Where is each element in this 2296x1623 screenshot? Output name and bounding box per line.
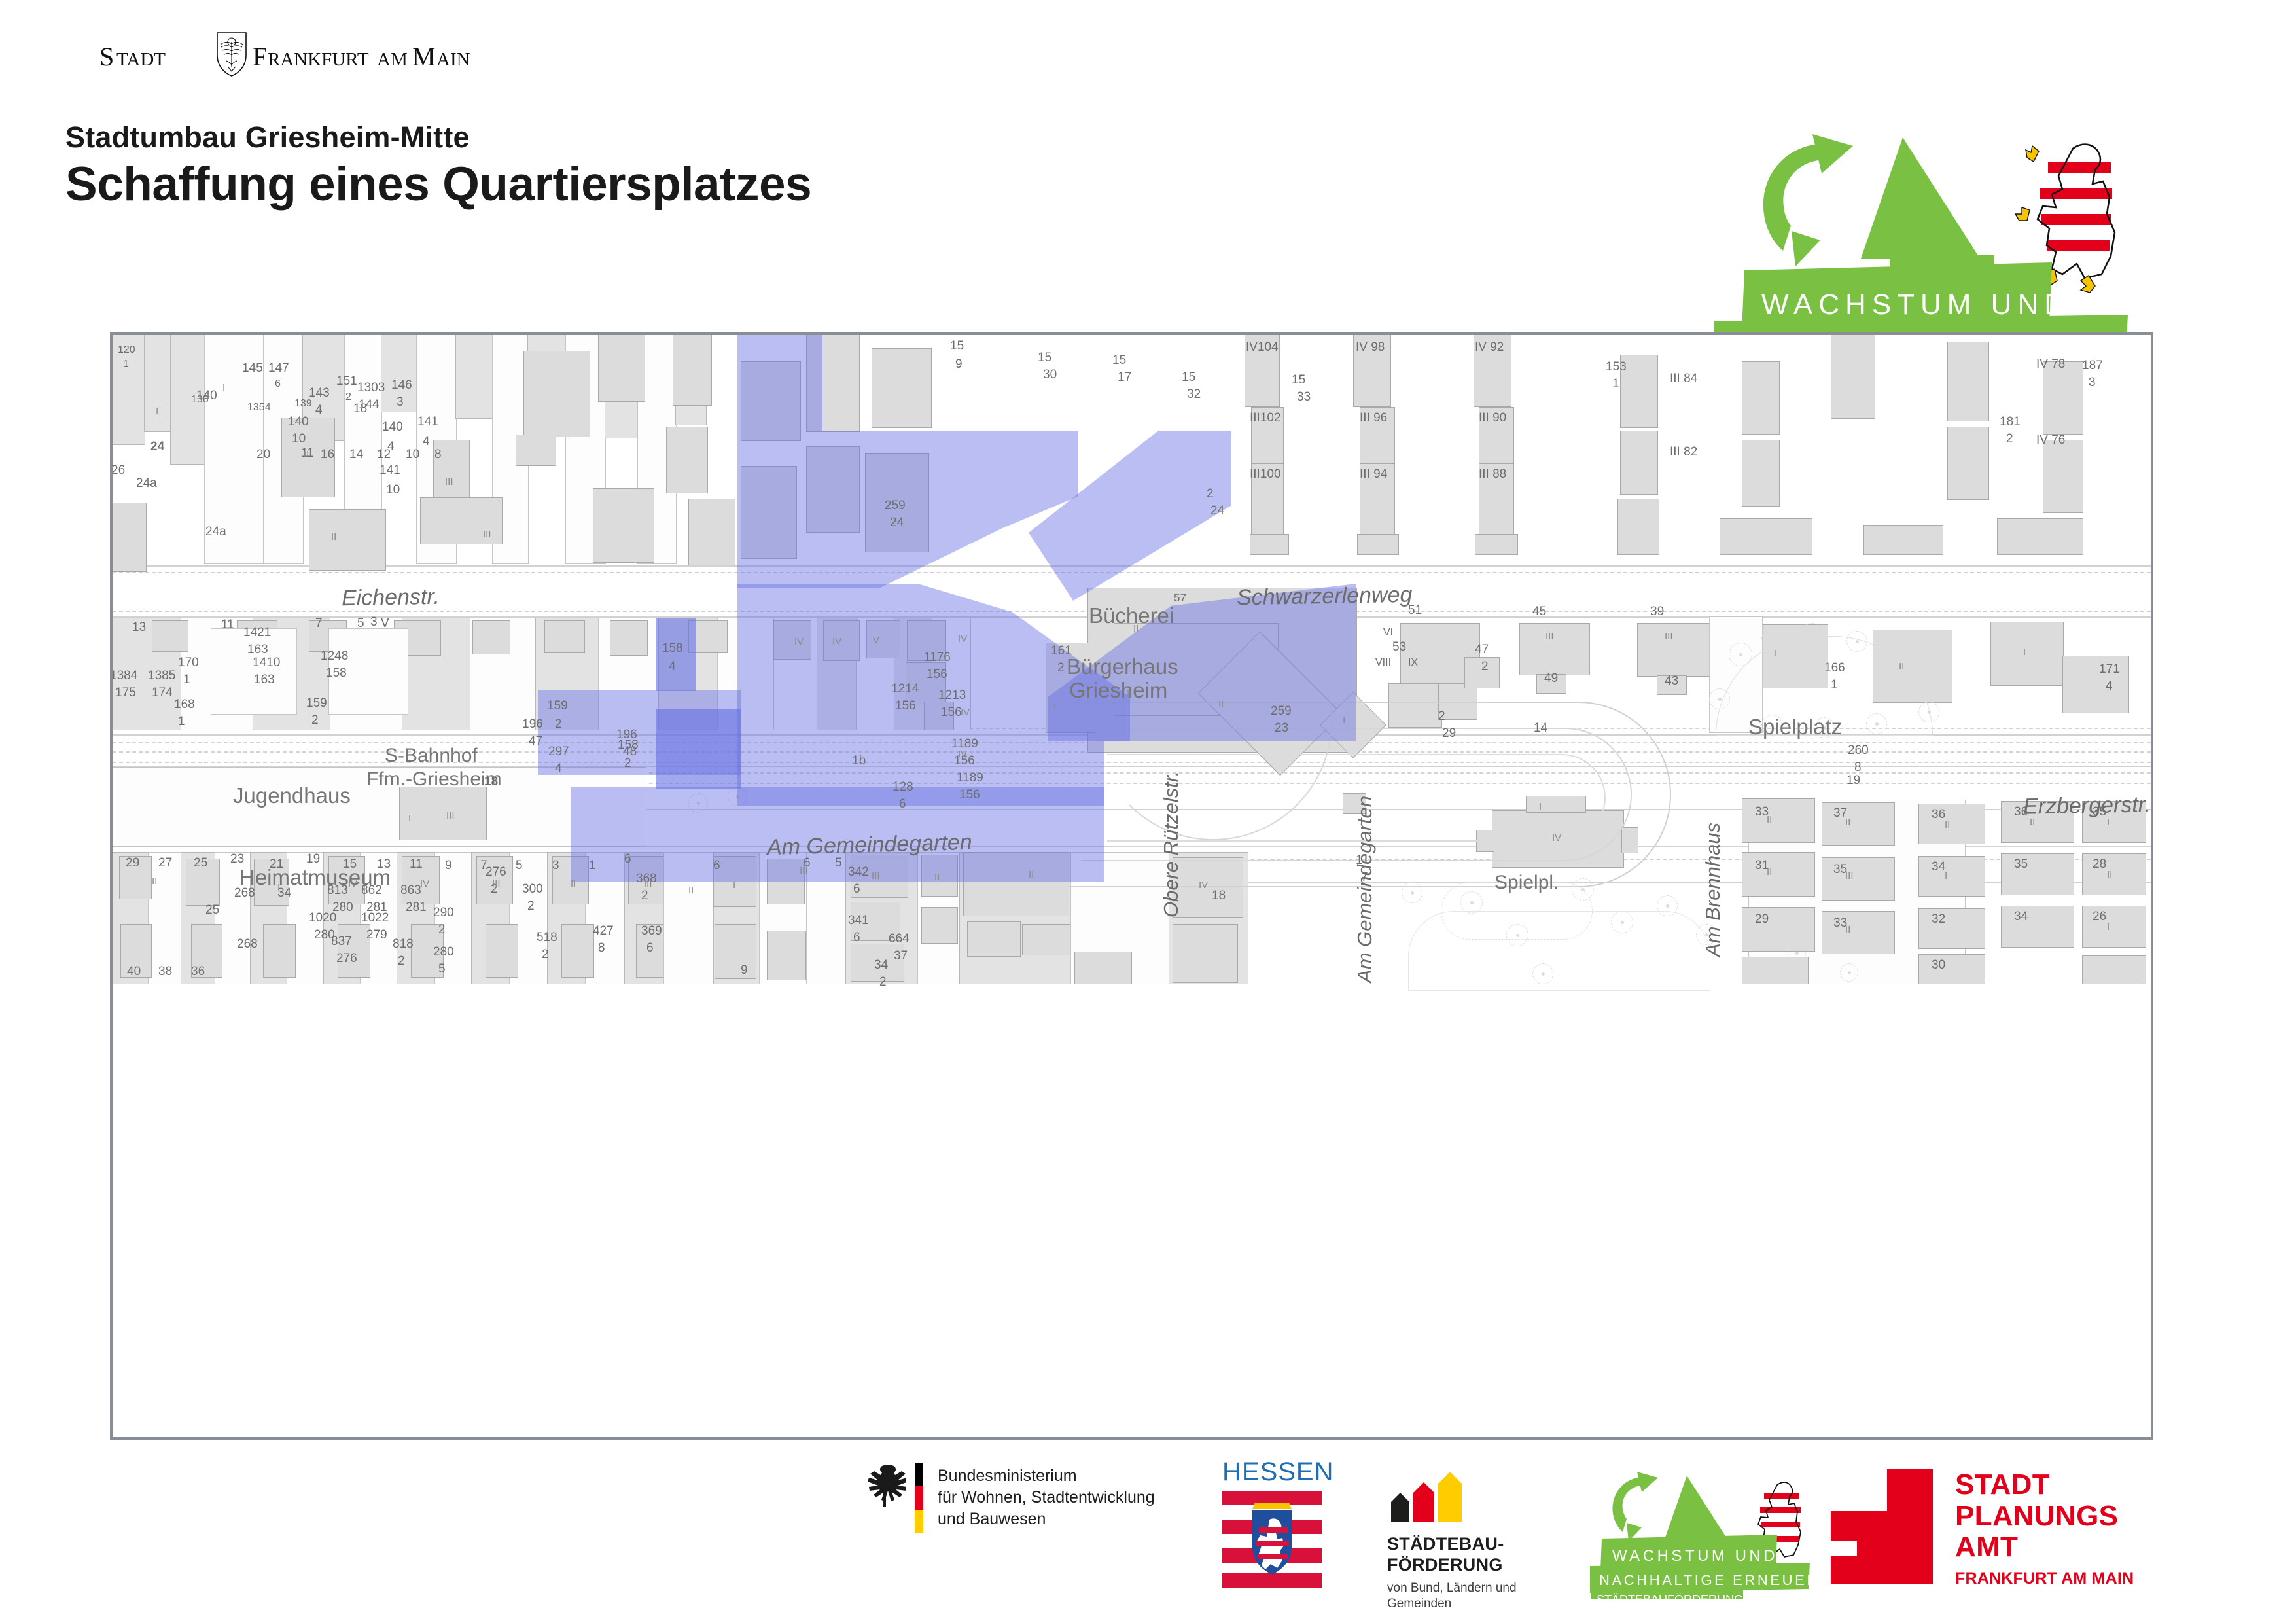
house-number: 4: [2106, 679, 2113, 694]
house-number: III 94: [1360, 467, 1387, 482]
house-number: 813: [327, 883, 348, 898]
recycling-arrow-icon: [1612, 1472, 1658, 1541]
house-number: III100: [1250, 467, 1281, 482]
house-number: 2: [1057, 661, 1065, 675]
spa-line1: STADT: [1955, 1469, 2134, 1501]
svg-text:STÄDTEBAUFÖRDERUNG HESSEN: STÄDTEBAUFÖRDERUNG HESSEN: [1597, 1593, 1795, 1599]
house-number: 268: [237, 937, 258, 952]
house-number: 1: [1831, 678, 1838, 692]
stadtplanungsamt-logo: STADT PLANUNGS AMT FRANKFURT AM MAIN: [1831, 1469, 2134, 1588]
house-number: 5: [516, 859, 523, 873]
house-number: 6: [624, 852, 631, 866]
house-number: 29: [126, 856, 139, 870]
house-number: III 82: [1670, 445, 1697, 459]
house-number: 128: [892, 780, 913, 794]
street-label-am-gemeindegarten-vertical: Am Gemeindegarten: [1353, 796, 1377, 983]
house-number: 9: [741, 963, 748, 978]
house-number: 369: [641, 924, 662, 938]
house-number: 1410: [253, 656, 280, 670]
house-number: 9: [955, 357, 963, 372]
house-number: 1421: [243, 626, 271, 640]
quartiersplatz-highlight-north: [737, 332, 822, 431]
poi-buecherei: Bücherei: [1089, 603, 1174, 628]
svg-text:AIN: AIN: [436, 49, 470, 70]
house-number: 837: [331, 935, 352, 949]
house-number: 26: [2093, 910, 2106, 924]
house-number: 1384: [110, 669, 137, 683]
house-number: 156: [927, 668, 947, 682]
house-number: 19: [1846, 774, 1860, 788]
house-number: 51: [1408, 603, 1422, 618]
svg-text:NACHHALTIGE ERNEUERUNG: NACHHALTIGE ERNEUERUNG: [1599, 1572, 1852, 1588]
house-number: IV104: [1246, 340, 1279, 355]
house-number: 166: [1824, 661, 1845, 675]
house-number: 2: [1438, 709, 1445, 724]
house-number: 15: [343, 857, 357, 872]
house-number: 163: [247, 643, 268, 657]
house-number: 168: [174, 698, 195, 712]
house-number: 37: [894, 949, 908, 963]
house-number: 2: [1481, 660, 1489, 674]
house-number: 25: [194, 856, 207, 870]
house-number: 141: [380, 463, 400, 478]
house-number: III 84: [1670, 372, 1697, 386]
house-number: 24a: [205, 525, 226, 539]
house-number: 30: [1932, 958, 1945, 972]
wachstum-footer-badge: WACHSTUM UND NACHHALTIGE ERNEUERUNG STÄD…: [1590, 1468, 1852, 1602]
house-number: III102: [1250, 411, 1281, 425]
frankfurt-city-logo: S TADT F RANKFURT AM M AIN: [97, 31, 516, 76]
house-number: 145: [242, 361, 263, 376]
house-number: 32: [1932, 912, 1945, 927]
house-number: 151: [336, 374, 357, 389]
svg-text:S: S: [99, 42, 114, 71]
hessen-logo: HESSEN: [1222, 1457, 1334, 1591]
house-number: 2: [2006, 432, 2013, 446]
house-number: 140: [382, 420, 403, 435]
house-number: 8: [1854, 760, 1862, 775]
house-number: 147: [268, 361, 289, 376]
house-number: 143: [309, 386, 330, 401]
house-number: 144: [359, 398, 380, 412]
house-number: 174: [152, 686, 173, 700]
house-number: 260: [1848, 743, 1869, 758]
house-number: 40: [127, 965, 141, 979]
house-number: 342: [848, 865, 869, 880]
house-number: 341: [848, 914, 869, 928]
house-number: 27: [158, 856, 172, 870]
house-number: 47: [529, 734, 542, 749]
house-number: III 88: [1479, 467, 1506, 482]
svg-text:M: M: [412, 42, 436, 71]
house-number: 862: [361, 883, 382, 898]
house-number: 5: [438, 962, 446, 976]
house-number: 146: [391, 378, 412, 393]
house-number: 140: [196, 389, 217, 403]
house-number: 5: [357, 616, 364, 631]
house-number: 2: [1207, 487, 1214, 501]
street-label-erzbergerstr: Erzbergerstr.: [2023, 792, 2151, 819]
house-number: 30: [1043, 368, 1057, 382]
house-number: 196: [616, 728, 637, 742]
poi-jugendhaus: Jugendhaus: [233, 783, 351, 808]
house-number: 1354: [247, 402, 271, 414]
house-number: 281: [406, 901, 427, 915]
house-number: 47: [1475, 643, 1489, 657]
house-number: 45: [1532, 605, 1546, 619]
parcel-number: 2: [345, 391, 351, 403]
house-number: 1303: [357, 381, 385, 395]
svg-text:F: F: [253, 42, 267, 71]
staedtebau-line1: STÄDTEBAU-: [1387, 1534, 1517, 1555]
house-number: 15: [950, 339, 964, 353]
house-number: 34: [2014, 910, 2028, 924]
house-number: 24: [1210, 504, 1224, 518]
house-number: 38: [158, 965, 172, 979]
house-number: 23: [1275, 721, 1288, 736]
house-number: 2: [527, 899, 535, 914]
svg-text:RANKFURT: RANKFURT: [268, 49, 369, 70]
house-number: 1: [589, 859, 596, 873]
house-number: 4: [555, 762, 562, 776]
house-number: IV 76: [2036, 433, 2065, 448]
house-number: 863: [400, 883, 421, 898]
staedtebau-line2: FÖRDERUNG: [1387, 1555, 1517, 1576]
street-label-am-brennhaus: Am Brennhaus: [1701, 823, 1725, 957]
house-number: 11: [410, 857, 423, 872]
house-number: 12: [377, 448, 391, 462]
house-number: 268: [234, 886, 255, 901]
poi-spielplatz: Spielplatz: [1748, 715, 1842, 740]
house-number: 48: [623, 745, 637, 759]
house-number: 24: [890, 516, 904, 530]
house-number: 300: [522, 882, 543, 897]
house-number: 15: [1182, 370, 1195, 385]
street-label-schwarzerlenweg: Schwarzerlenweg: [1237, 582, 1413, 611]
house-number: IV 92: [1475, 340, 1504, 355]
house-number: III 90: [1479, 411, 1506, 425]
svg-text:WACHSTUM UND: WACHSTUM UND: [1761, 289, 2071, 321]
house-number: 21: [270, 857, 283, 872]
house-number: 8: [434, 448, 442, 462]
house-number: 2: [879, 975, 887, 990]
house-number: 664: [889, 932, 910, 946]
house-number: 276: [336, 952, 357, 966]
svg-text:WACHSTUM UND: WACHSTUM UND: [1612, 1547, 1778, 1565]
house-number: 4: [315, 403, 323, 418]
bmwsb-line2: für Wohnen, Stadtentwicklung: [938, 1487, 1155, 1508]
footer-logo-bar: Bundesministerium für Wohnen, Stadtentwi…: [0, 1450, 2296, 1623]
staedtebau-sub2: Gemeinden: [1387, 1596, 1517, 1613]
recycling-arrow-icon: [1763, 134, 1853, 266]
house-number: VIII: [1375, 657, 1391, 669]
house-number: 156: [941, 705, 962, 720]
house-number: 6: [646, 941, 654, 955]
house-number: 35: [2093, 805, 2106, 819]
house-number: 163: [254, 673, 275, 687]
house-number: 2: [542, 948, 549, 962]
house-number: 35: [2014, 857, 2028, 872]
house-number: 2: [438, 923, 446, 937]
house-number: 24a: [136, 476, 157, 491]
house-number: 158: [326, 666, 347, 681]
house-number: 7: [315, 616, 323, 631]
house-number: 26: [111, 463, 125, 478]
house-number: III 96: [1360, 411, 1387, 425]
house-number: 1214: [891, 682, 919, 696]
hessen-wordmark: HESSEN: [1222, 1457, 1334, 1487]
house-number: VI: [1383, 627, 1393, 639]
spa-line3: AMT: [1955, 1531, 2134, 1563]
house-number: 1: [1612, 377, 1619, 391]
bmwsb-line3: und Bauwesen: [938, 1508, 1155, 1530]
house-number: 5: [835, 856, 842, 870]
parcel-number: 6: [275, 378, 281, 390]
house-number: 16: [321, 448, 334, 462]
house-number: 259: [885, 499, 906, 513]
street-label-am-gemeindegarten: Am Gemeindegarten: [767, 830, 973, 861]
poi-buergerhaus: Bürgerhaus: [1067, 654, 1178, 679]
project-kicker: Stadtumbau Griesheim-Mitte: [65, 120, 470, 154]
house-number: 20: [256, 448, 270, 462]
house-number: 57: [1174, 592, 1186, 605]
house-number: 17: [1118, 370, 1131, 385]
house-number: 1: [183, 673, 190, 687]
house-number: 2: [311, 713, 319, 728]
poi-spielpl: Spielpl.: [1494, 872, 1559, 894]
house-number: IV 78: [2036, 357, 2065, 372]
house-number: 14: [349, 448, 363, 462]
house-number: 156: [895, 699, 916, 713]
house-number: 156: [959, 788, 980, 802]
cadastral-map[interactable]: Eichenstr. Schwarzerlenweg Am Gemeindega…: [110, 332, 2153, 1440]
svg-text:AM: AM: [377, 49, 408, 70]
bmwsb-line1: Bundesministerium: [938, 1465, 1155, 1487]
house-number: 4: [423, 435, 430, 449]
house-number: 36: [191, 965, 205, 979]
house-number: 15: [1292, 373, 1305, 387]
house-number: 427: [593, 924, 614, 938]
house-number: 13: [377, 857, 391, 872]
spa-line2: PLANUNGS: [1955, 1501, 2134, 1532]
house-number: 159: [547, 699, 568, 713]
house-number: 2: [398, 954, 405, 969]
house-number: 1189: [957, 771, 983, 785]
house-number: 196: [522, 717, 543, 732]
house-number: 259: [1271, 704, 1292, 719]
quartiersplatz-highlight-parcel-158-2: [656, 709, 741, 789]
house-number: 23: [230, 852, 244, 866]
house-number: 11: [221, 618, 234, 632]
house-number: 15: [1112, 353, 1126, 368]
house-number: 43: [1665, 674, 1678, 688]
house-number: 153: [1606, 360, 1627, 374]
house-number: 6: [713, 859, 720, 873]
house-number: 181: [2000, 415, 2021, 429]
parcel-number: 1: [123, 359, 129, 370]
house-number: 297: [548, 745, 569, 759]
house-number: 818: [393, 937, 414, 952]
house-number: 24: [150, 440, 164, 454]
house-number: 276: [486, 865, 506, 880]
house-number: 1: [1356, 853, 1363, 868]
bmwsb-logo: Bundesministerium für Wohnen, Stadtentwi…: [864, 1461, 1155, 1533]
house-number: 159: [306, 696, 327, 711]
house-number: 161: [1051, 644, 1072, 658]
house-number: 7: [1361, 870, 1368, 885]
house-number: 290: [433, 906, 454, 920]
three-houses-icon: [1387, 1469, 1485, 1522]
house-number: 140: [288, 415, 309, 429]
house-number: 1b: [852, 754, 866, 768]
parcel-number: 120: [118, 344, 135, 356]
house-number: 175: [115, 686, 136, 700]
house-number: 34: [874, 958, 888, 972]
house-number: 36: [1932, 808, 1945, 822]
poi-ffm-griesheim: Ffm.-Griesheim: [366, 768, 502, 791]
house-number: 29: [1442, 726, 1456, 741]
house-number: 2: [555, 717, 562, 732]
house-number: 13: [132, 620, 146, 635]
stadtplanungsamt-block-icon: [1831, 1469, 1933, 1584]
house-number: 1385: [148, 669, 175, 683]
house-number: 4: [669, 660, 676, 674]
svg-text:TADT: TADT: [116, 49, 166, 70]
house-number: 6: [899, 797, 906, 811]
street-label-eichenstr: Eichenstr.: [342, 584, 440, 612]
poi-griesheim: Griesheim: [1069, 678, 1167, 703]
house-number: 28: [2093, 857, 2106, 872]
house-number: 171: [2099, 662, 2120, 677]
house-number: 19: [306, 852, 320, 866]
house-number: V: [381, 616, 389, 631]
house-number: 3: [370, 615, 378, 630]
house-number: 3: [397, 395, 404, 410]
house-number: 10: [406, 448, 419, 462]
page-title: Schaffung eines Quartiersplatzes: [65, 157, 811, 211]
house-number: 9: [445, 859, 452, 873]
street-label-obere-ruetzelstr: Obere Rützelstr.: [1159, 770, 1183, 918]
house-number: 1213: [938, 688, 966, 703]
staedtebau-sub1: von Bund, Ländern und: [1387, 1580, 1517, 1597]
house-number: 39: [1650, 605, 1664, 619]
house-number: 36: [2014, 805, 2028, 819]
house-number: 32: [1187, 387, 1201, 402]
house-number: 158: [662, 641, 683, 656]
house-number: 3: [552, 859, 559, 873]
house-number: 1020: [309, 911, 336, 925]
house-number: 29: [1755, 912, 1769, 927]
house-number: 53: [1392, 640, 1406, 654]
house-number: 187: [2082, 359, 2103, 373]
house-number: 10: [292, 432, 306, 446]
house-number: 281: [366, 901, 387, 915]
house-number: 34: [1932, 860, 1945, 874]
house-number: 14: [1534, 721, 1547, 736]
house-number: 18: [1212, 889, 1226, 903]
house-number: 33: [1297, 390, 1311, 404]
spa-sub: FRANKFURT AM MAIN: [1955, 1569, 2134, 1588]
house-number: IX: [1408, 657, 1418, 669]
house-number: IV 98: [1356, 340, 1385, 355]
house-number: 518: [537, 931, 557, 945]
house-number: 6: [853, 931, 860, 945]
house-number: 15: [1038, 351, 1051, 365]
house-number: 280: [433, 945, 454, 959]
house-number: 18: [484, 775, 498, 789]
house-number: 170: [178, 656, 199, 670]
staedtebaufoerderung-logo: STÄDTEBAU- FÖRDERUNG von Bund, Ländern u…: [1387, 1469, 1517, 1613]
house-number: 3: [2089, 376, 2096, 390]
bundesadler-icon: [864, 1461, 906, 1514]
house-number: 6: [853, 882, 860, 897]
frankfurt-eagle-coat-of-arms: S TADT F RANKFURT AM M AIN: [97, 31, 516, 77]
house-number: 1: [178, 715, 185, 729]
house-number: 49: [1544, 671, 1558, 686]
poi-s-bahnhof: S-Bahnhof: [385, 745, 478, 767]
house-number: 10: [386, 483, 400, 497]
house-number: 25: [205, 903, 219, 918]
house-number: 279: [366, 928, 387, 942]
house-number: 8: [598, 941, 605, 955]
house-number: 1176: [924, 651, 951, 665]
hessen-coat-of-arms-flag-icon: [1222, 1489, 1322, 1588]
house-number: 141: [417, 415, 438, 429]
house-number: 2: [641, 889, 648, 903]
quartiersplatz-highlight-upper: [737, 431, 1078, 588]
house-number: 1248: [321, 649, 348, 664]
